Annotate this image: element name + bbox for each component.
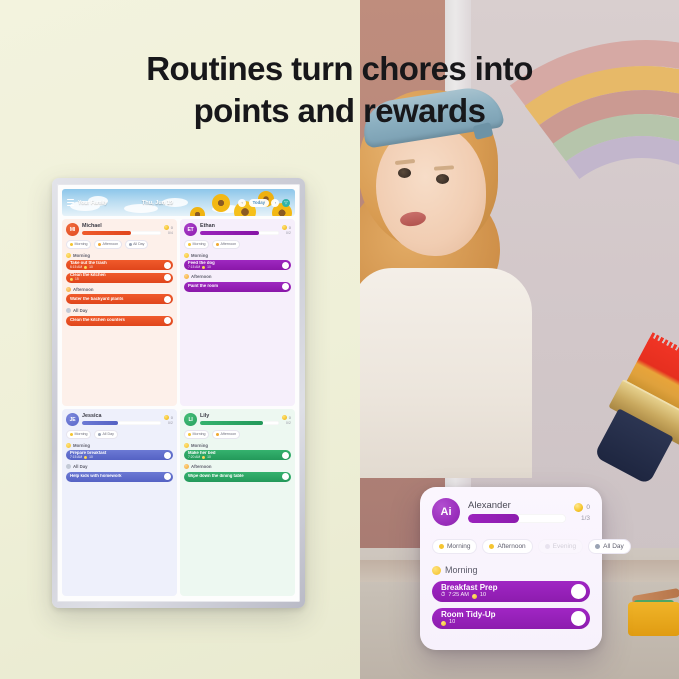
member-name: Alexander — [468, 501, 566, 511]
task-points: 15 — [75, 278, 79, 281]
task-fraction: 0/4 — [168, 231, 173, 235]
task-title: Feed the dog — [188, 261, 282, 265]
chip-label: Evening — [553, 543, 577, 550]
chip-morning[interactable]: Morning — [184, 240, 209, 249]
task-toggle[interactable] — [164, 473, 171, 480]
task-toggle[interactable] — [282, 452, 289, 459]
task-meta: 7:15 AM10 — [188, 266, 282, 269]
sun-icon — [432, 566, 441, 575]
chip-morning[interactable]: Morning — [432, 539, 477, 554]
chip-label: Afternoon — [220, 432, 236, 436]
task-row[interactable]: Feed the dog 7:15 AM10 — [184, 260, 291, 270]
chip-all-day[interactable]: All Day — [588, 539, 631, 554]
task-points: 10 — [207, 456, 211, 459]
task-time: 6:15 AM — [70, 266, 82, 269]
toy-box — [628, 602, 679, 636]
floating-member-card[interactable]: Ai Alexander 0 1/3 Morning Afternoon Eve… — [420, 487, 602, 650]
task-toggle[interactable] — [164, 452, 171, 459]
task-title: Paint the room — [188, 284, 282, 288]
coin-icon — [202, 456, 205, 459]
section-header-morning: Morning — [66, 443, 173, 448]
current-date-label: Thu, Jun 19 — [142, 200, 173, 206]
chip-afternoon[interactable]: Afternoon — [212, 430, 240, 439]
section-header-morning: Morning — [184, 253, 291, 258]
coin-icon — [70, 278, 73, 281]
sun-icon — [184, 253, 189, 258]
progress-bar — [82, 421, 161, 426]
chip-morning[interactable]: Morning — [66, 430, 91, 439]
task-row[interactable]: Room Tidy-Up 10 — [432, 608, 590, 629]
task-time: 7:15 AM — [70, 456, 82, 459]
member-header: ET Ethan 0 0/2 — [184, 223, 291, 236]
section-title: Morning — [73, 443, 90, 448]
chip-afternoon[interactable]: Afternoon — [212, 240, 240, 249]
task-title: Clean the kitchen counters — [70, 318, 164, 322]
task-row[interactable]: Breakfast Prep ⏱ 7:25 AM 10 — [432, 581, 590, 602]
filter-chips: Morning Afternoon All Day — [66, 240, 173, 249]
coin-count: 0 — [586, 504, 590, 511]
member-card-michael[interactable]: MI Michael 0 0/4 Morning — [62, 219, 177, 406]
coin-count: 0 — [171, 415, 173, 420]
afternoon-icon — [184, 274, 189, 279]
coin-icon — [574, 503, 583, 512]
task-meta: 10 — [441, 620, 571, 626]
section-title: Afternoon — [191, 464, 212, 469]
tablet-device: Your Family Thu, Jun 19 ‹ Today › ▽ MI — [52, 178, 305, 608]
task-fraction: 0/2 — [286, 231, 291, 235]
task-title: Water the backyard plants — [70, 297, 164, 301]
coin-icon — [164, 225, 169, 230]
task-meta: 7:15 AM10 — [70, 456, 164, 459]
filter-chips: Morning Afternoon — [184, 240, 291, 249]
task-row[interactable]: Water the backyard plants — [66, 294, 173, 304]
task-row[interactable]: Clean the kitchen counters — [66, 316, 173, 326]
coin-count: 0 — [171, 225, 173, 230]
coin-icon — [164, 415, 169, 420]
chip-afternoon[interactable]: Afternoon — [94, 240, 122, 249]
task-title: Make her bed — [188, 451, 282, 455]
prev-day-button[interactable]: ‹ — [238, 199, 246, 207]
clock-icon: ⏱ — [441, 593, 445, 599]
coin-icon — [472, 594, 477, 599]
page-headline: Routines turn chores into points and rew… — [0, 48, 679, 132]
chip-label: All Day — [133, 242, 144, 246]
chip-morning[interactable]: Morning — [66, 240, 91, 249]
avatar[interactable]: MI — [66, 223, 79, 236]
task-toggle[interactable] — [282, 473, 289, 480]
filter-icon[interactable]: ▽ — [282, 199, 290, 207]
task-points: 10 — [89, 456, 93, 459]
section-header-afternoon: Afternoon — [66, 287, 173, 292]
task-toggle[interactable] — [282, 262, 289, 269]
chip-all-day[interactable]: All Day — [125, 240, 149, 249]
scene: Routines turn chores into points and rew… — [0, 0, 679, 679]
child-eye-right — [436, 174, 449, 184]
all-day-icon — [66, 464, 71, 469]
section-header-afternoon: Afternoon — [184, 464, 291, 469]
member-name: Lily — [200, 414, 279, 419]
member-grid: MI Michael 0 0/4 Morning — [62, 219, 295, 596]
header-controls: ‹ Today › ▽ — [238, 199, 290, 207]
points-summary: 0 0/2 — [282, 415, 291, 425]
afternoon-icon — [66, 287, 71, 292]
filter-chips: Morning Afternoon Evening All Day — [432, 539, 590, 554]
member-header: JE Jessica 0 0/2 — [66, 413, 173, 426]
filter-chips: Morning Afternoon — [184, 430, 291, 439]
task-row[interactable]: Prepare breakfast 7:15 AM10 — [66, 450, 173, 460]
chip-all-day[interactable]: All Day — [94, 430, 118, 439]
chip-label: Morning — [75, 432, 88, 436]
task-points: 10 — [480, 593, 486, 599]
section-header-all-day: All Day — [66, 464, 173, 469]
member-card-jessica[interactable]: JE Jessica 0 0/2 Morning — [62, 409, 177, 596]
afternoon-icon — [184, 464, 189, 469]
coin-count: 0 — [289, 415, 291, 420]
section-title: Morning — [445, 565, 478, 575]
task-row[interactable]: Paint the room — [184, 282, 291, 292]
hamburger-menu-icon[interactable] — [67, 199, 74, 206]
points-summary: 0 0/2 — [282, 225, 291, 235]
section-title: Morning — [191, 443, 208, 448]
task-title: Room Tidy-Up — [441, 611, 571, 619]
task-toggle[interactable] — [164, 274, 171, 281]
member-name: Ethan — [200, 224, 279, 229]
member-header: MI Michael 0 0/4 — [66, 223, 173, 236]
today-button[interactable]: Today — [249, 199, 269, 207]
chip-label: Morning — [193, 242, 206, 246]
chip-label: Morning — [447, 543, 470, 550]
coin-icon — [84, 456, 87, 459]
section-title: Morning — [73, 253, 90, 258]
next-day-button[interactable]: › — [271, 199, 279, 207]
member-header: LI Lily 0 0/2 — [184, 413, 291, 426]
progress-fill — [82, 421, 118, 426]
task-toggle[interactable] — [571, 611, 586, 626]
progress-bar — [200, 231, 279, 236]
task-title: Help kids with homework — [70, 474, 164, 478]
points-summary: 0 1/3 — [574, 503, 590, 522]
coin-icon — [202, 266, 205, 269]
sun-icon — [184, 443, 189, 448]
avatar[interactable]: JE — [66, 413, 79, 426]
chip-label: Morning — [75, 242, 88, 246]
task-points: 10 — [449, 620, 455, 626]
chip-morning[interactable]: Morning — [184, 430, 209, 439]
task-points: 10 — [89, 266, 93, 269]
sun-icon — [66, 443, 71, 448]
avatar[interactable]: ET — [184, 223, 197, 236]
section-title: All Day — [73, 464, 88, 469]
task-meta: 6:15 AM10 — [70, 266, 164, 269]
task-meta: 7:20 AM10 — [188, 456, 282, 459]
tablet-screen: Your Family Thu, Jun 19 ‹ Today › ▽ MI — [57, 184, 300, 602]
section-header-morning: Morning — [432, 565, 590, 575]
section-header-all-day: All Day — [66, 308, 173, 313]
task-toggle[interactable] — [282, 283, 289, 290]
member-card-ethan[interactable]: ET Ethan 0 0/2 Morning — [180, 219, 295, 406]
avatar[interactable]: LI — [184, 413, 197, 426]
task-fraction: 1/3 — [581, 515, 590, 522]
all-day-icon — [66, 308, 71, 313]
task-row[interactable]: Take out the trash 6:15 AM10 — [66, 260, 173, 270]
task-title: Prepare breakfast — [70, 451, 164, 455]
progress-fill — [200, 231, 259, 236]
card-header: Ai Alexander 0 1/3 — [432, 498, 590, 526]
chip-label: All Day — [102, 432, 113, 436]
avatar[interactable]: Ai — [432, 498, 460, 526]
app-title: Your Family — [78, 200, 107, 206]
headline-line-1: Routines turn chores into — [0, 48, 679, 90]
task-meta: ⏱ 7:25 AM 10 — [441, 593, 571, 599]
progress-bar — [82, 231, 161, 236]
task-title: Wipe down the dining table — [188, 474, 282, 478]
progress-bar — [468, 514, 566, 523]
chip-evening[interactable]: Evening — [538, 539, 584, 554]
progress-fill — [82, 231, 131, 236]
chip-label: Afternoon — [220, 242, 236, 246]
task-meta: 15 — [70, 278, 164, 281]
coin-count: 0 — [289, 225, 291, 230]
section-title: All Day — [73, 308, 88, 313]
member-name: Jessica — [82, 414, 161, 419]
task-points: 10 — [207, 266, 211, 269]
member-name: Michael — [82, 224, 161, 229]
task-time: 7:25 AM — [448, 593, 469, 599]
progress-fill — [200, 421, 263, 426]
task-toggle[interactable] — [571, 584, 586, 599]
task-time: 7:20 AM — [188, 456, 200, 459]
section-header-afternoon: Afternoon — [184, 274, 291, 279]
coin-icon — [282, 225, 287, 230]
task-row[interactable]: Make her bed 7:20 AM10 — [184, 450, 291, 460]
section-title: Afternoon — [191, 274, 212, 279]
progress-fill — [468, 514, 519, 523]
section-header-morning: Morning — [66, 253, 173, 258]
task-toggle[interactable] — [164, 262, 171, 269]
task-title: Breakfast Prep — [441, 584, 571, 592]
task-title: Clean the kitchen — [70, 273, 164, 277]
task-row[interactable]: Clean the kitchen 15 — [66, 273, 173, 283]
chip-afternoon[interactable]: Afternoon — [482, 539, 532, 554]
section-header-morning: Morning — [184, 443, 291, 448]
points-summary: 0 0/2 — [164, 415, 173, 425]
task-title: Take out the trash — [70, 261, 164, 265]
child-shirt — [360, 268, 532, 478]
coin-icon — [84, 266, 87, 269]
task-toggle[interactable] — [164, 317, 171, 324]
task-fraction: 0/2 — [286, 421, 291, 425]
headline-line-2: points and rewards — [0, 90, 679, 132]
task-row[interactable]: Wipe down the dining table — [184, 472, 291, 482]
section-title: Morning — [191, 253, 208, 258]
app-header-banner: Your Family Thu, Jun 19 ‹ Today › ▽ — [62, 189, 295, 216]
chip-label: All Day — [603, 543, 624, 550]
coin-icon — [441, 621, 446, 626]
points-summary: 0 0/4 — [164, 225, 173, 235]
section-title: Afternoon — [73, 287, 94, 292]
chip-label: Afternoon — [497, 543, 525, 550]
task-time: 7:15 AM — [188, 266, 200, 269]
task-toggle[interactable] — [164, 296, 171, 303]
chip-label: Morning — [193, 432, 206, 436]
sun-icon — [66, 253, 71, 258]
member-card-lily[interactable]: LI Lily 0 0/2 Morning — [180, 409, 295, 596]
chip-label: Afternoon — [102, 242, 118, 246]
filter-chips: Morning All Day — [66, 430, 173, 439]
child-eye-left — [398, 168, 411, 178]
task-fraction: 0/2 — [168, 421, 173, 425]
progress-bar — [200, 421, 279, 426]
coin-icon — [282, 415, 287, 420]
task-row[interactable]: Help kids with homework — [66, 472, 173, 482]
